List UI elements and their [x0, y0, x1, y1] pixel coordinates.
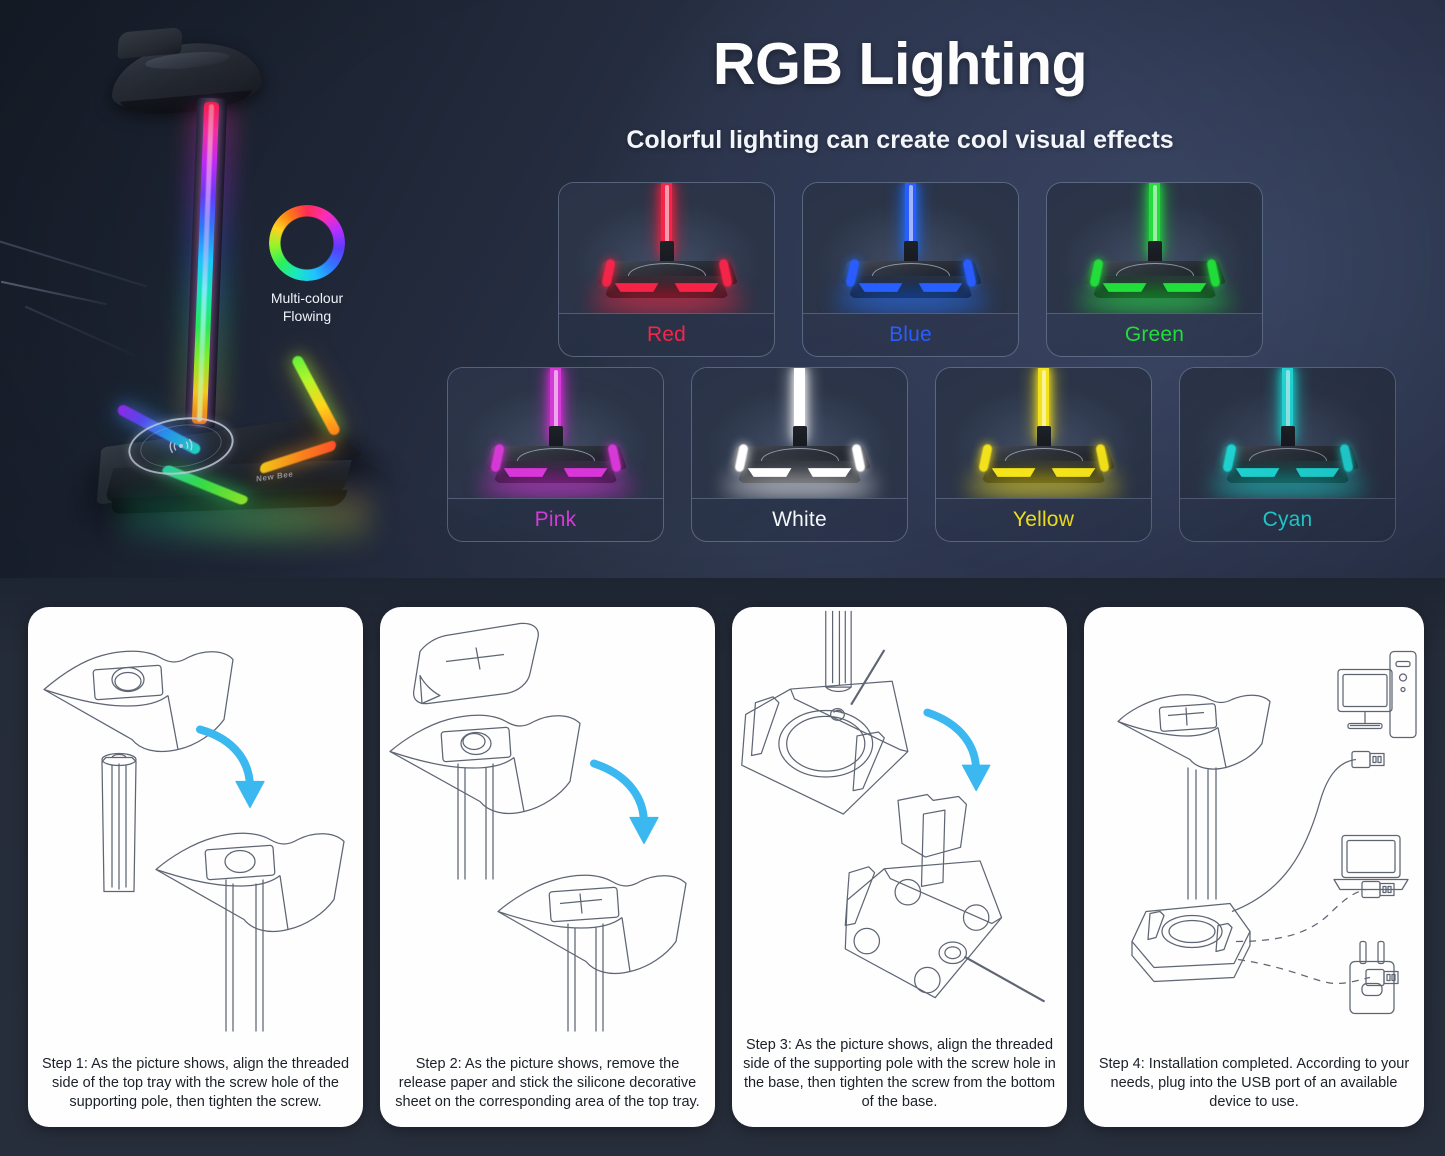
mini-light-reflection	[725, 472, 875, 499]
step-1-illustration	[28, 607, 363, 1046]
step-2-illustration	[380, 607, 715, 1046]
floor-line	[0, 239, 147, 288]
step-4-caption: Step 4: Installation completed. Accordin…	[1084, 1046, 1424, 1127]
color-card-label: Pink	[448, 499, 663, 541]
mini-light-reflection	[836, 287, 986, 314]
color-card-label: Red	[559, 314, 774, 356]
step-3-illustration	[732, 607, 1067, 1027]
multicolour-line2: Flowing	[283, 308, 331, 324]
color-card-image	[803, 183, 1018, 314]
color-card-white[interactable]: White	[691, 367, 908, 542]
color-card-green[interactable]: Green	[1046, 182, 1263, 357]
step-1-caption: Step 1: As the picture shows, align the …	[28, 1046, 363, 1127]
color-card-image	[936, 368, 1151, 499]
color-card-label: White	[692, 499, 907, 541]
color-card-image	[448, 368, 663, 499]
mini-light-reflection	[1080, 287, 1230, 314]
usb-cable	[1, 281, 107, 305]
color-wheel-icon	[269, 205, 345, 281]
step-3-caption: Step 3: As the picture shows, align the …	[732, 1027, 1067, 1127]
color-card-red[interactable]: Red	[558, 182, 775, 357]
step-card-2: Step 2: As the picture shows, remove the…	[380, 607, 715, 1127]
color-card-label: Green	[1047, 314, 1262, 356]
color-card-image	[692, 368, 907, 499]
step-4-illustration	[1084, 607, 1424, 1046]
color-card-pink[interactable]: Pink	[447, 367, 664, 542]
hero-section: New Bee Multi-colour Flowing RGB Lightin…	[0, 0, 1445, 578]
instruction-cards: Step 1: As the picture shows, align the …	[28, 607, 1424, 1127]
color-card-label: Cyan	[1180, 499, 1395, 541]
swatch-row-top: RedBlueGreen	[558, 182, 1263, 357]
page-title: RGB Lighting	[560, 30, 1240, 98]
infographic-page: New Bee Multi-colour Flowing RGB Lightin…	[0, 0, 1445, 1156]
step-card-3: Step 3: As the picture shows, align the …	[732, 607, 1067, 1127]
desktop-computer-icon	[1338, 652, 1416, 738]
mini-light-reflection	[969, 472, 1119, 499]
floor-line-secondary	[25, 306, 135, 357]
supporting-pole	[177, 97, 236, 429]
multicolour-line1: Multi-colour	[271, 290, 343, 306]
swatch-row-bottom: PinkWhiteYellowCyan	[447, 367, 1396, 542]
step-card-1: Step 1: As the picture shows, align the …	[28, 607, 363, 1127]
color-card-yellow[interactable]: Yellow	[935, 367, 1152, 542]
mini-light-reflection	[481, 472, 631, 499]
step-card-4: Step 4: Installation completed. Accordin…	[1084, 607, 1424, 1127]
product-render: New Bee	[0, 0, 430, 578]
multicolour-badge: Multi-colour Flowing	[257, 205, 357, 325]
color-card-image	[1047, 183, 1262, 314]
multicolour-label: Multi-colour Flowing	[257, 289, 357, 325]
instructions-section: Step 1: As the picture shows, align the …	[0, 578, 1445, 1156]
color-card-image	[1180, 368, 1395, 499]
color-card-label: Yellow	[936, 499, 1151, 541]
color-card-label: Blue	[803, 314, 1018, 356]
page-subtitle: Colorful lighting can create cool visual…	[560, 126, 1240, 155]
mini-light-reflection	[1213, 472, 1363, 499]
color-card-cyan[interactable]: Cyan	[1179, 367, 1396, 542]
step-2-caption: Step 2: As the picture shows, remove the…	[380, 1046, 715, 1127]
color-card-blue[interactable]: Blue	[802, 182, 1019, 357]
mini-light-reflection	[592, 287, 742, 314]
color-card-image	[559, 183, 774, 314]
